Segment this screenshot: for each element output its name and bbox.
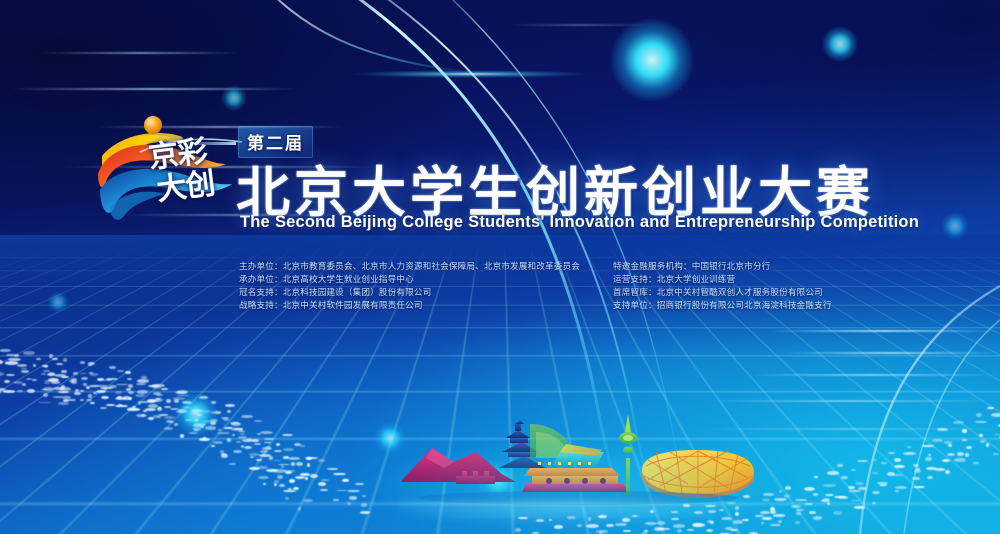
logo-wordmark: 京彩 大创 xyxy=(147,133,249,230)
credits-column-left: 主办单位：北京市教育委员会、北京市人力资源和社会保障局、北京市发展和改革委员会承… xyxy=(239,261,580,313)
credit-line: 运营支持：北京大学创业训练营 xyxy=(613,274,832,287)
credits-column-right: 特邀金融服务机构：中国银行北京市分行运营支持：北京大学创业训练营首席智库：北京中… xyxy=(613,261,832,313)
glow-orb xyxy=(610,18,693,101)
event-logo: 京彩 大创 xyxy=(96,112,246,228)
glow-orb xyxy=(941,212,970,241)
subtitle-word: Competition xyxy=(821,213,919,231)
logo-wordmark-line-2: 大创 xyxy=(155,166,246,206)
glow-orb xyxy=(174,392,219,437)
credit-line: 支持单位：招商银行股份有限公司北京海淀科技金融支行 xyxy=(613,300,832,313)
credit-line: 战略支持：北京中关村软件园发展有限责任公司 xyxy=(239,300,580,313)
subtitle-word: Second xyxy=(275,213,336,231)
credit-line: 特邀金融服务机构：中国银行北京市分行 xyxy=(613,261,832,274)
subtitle-word: Beijing xyxy=(341,213,397,231)
subtitle-word: and xyxy=(640,213,670,231)
credit-line: 主办单位：北京市教育委员会、北京市人力资源和社会保障局、北京市发展和改革委员会 xyxy=(239,261,580,274)
page-subtitle-english: The Second Beijing College Students' Inn… xyxy=(240,213,919,232)
poster-banner: 京彩 大创 第二届 北京大学生创新创业大赛 The Second Beijing… xyxy=(0,0,1000,534)
credit-line: 冠名支持：北京科技园建设（集团）股份有限公司 xyxy=(239,287,580,300)
glow-orb xyxy=(822,26,857,61)
skyline-reflection xyxy=(398,500,758,528)
subtitle-word: The xyxy=(240,213,270,231)
subtitle-word: Entrepreneurship xyxy=(675,213,816,231)
subtitle-word: College xyxy=(402,213,463,231)
subtitle-word: Students' xyxy=(468,213,544,231)
credit-line: 承办单位：北京高校大学生就业创业指导中心 xyxy=(239,274,580,287)
glow-orb xyxy=(221,85,247,111)
credit-line: 首席智库：北京中关村智酷双创人才服务股份有限公司 xyxy=(613,287,832,300)
beijing-skyline-illustration xyxy=(398,408,758,508)
credits-block: 主办单位：北京市教育委员会、北京市人力资源和社会保障局、北京市发展和改革委员会承… xyxy=(0,261,1000,323)
subtitle-word: Innovation xyxy=(549,213,634,231)
